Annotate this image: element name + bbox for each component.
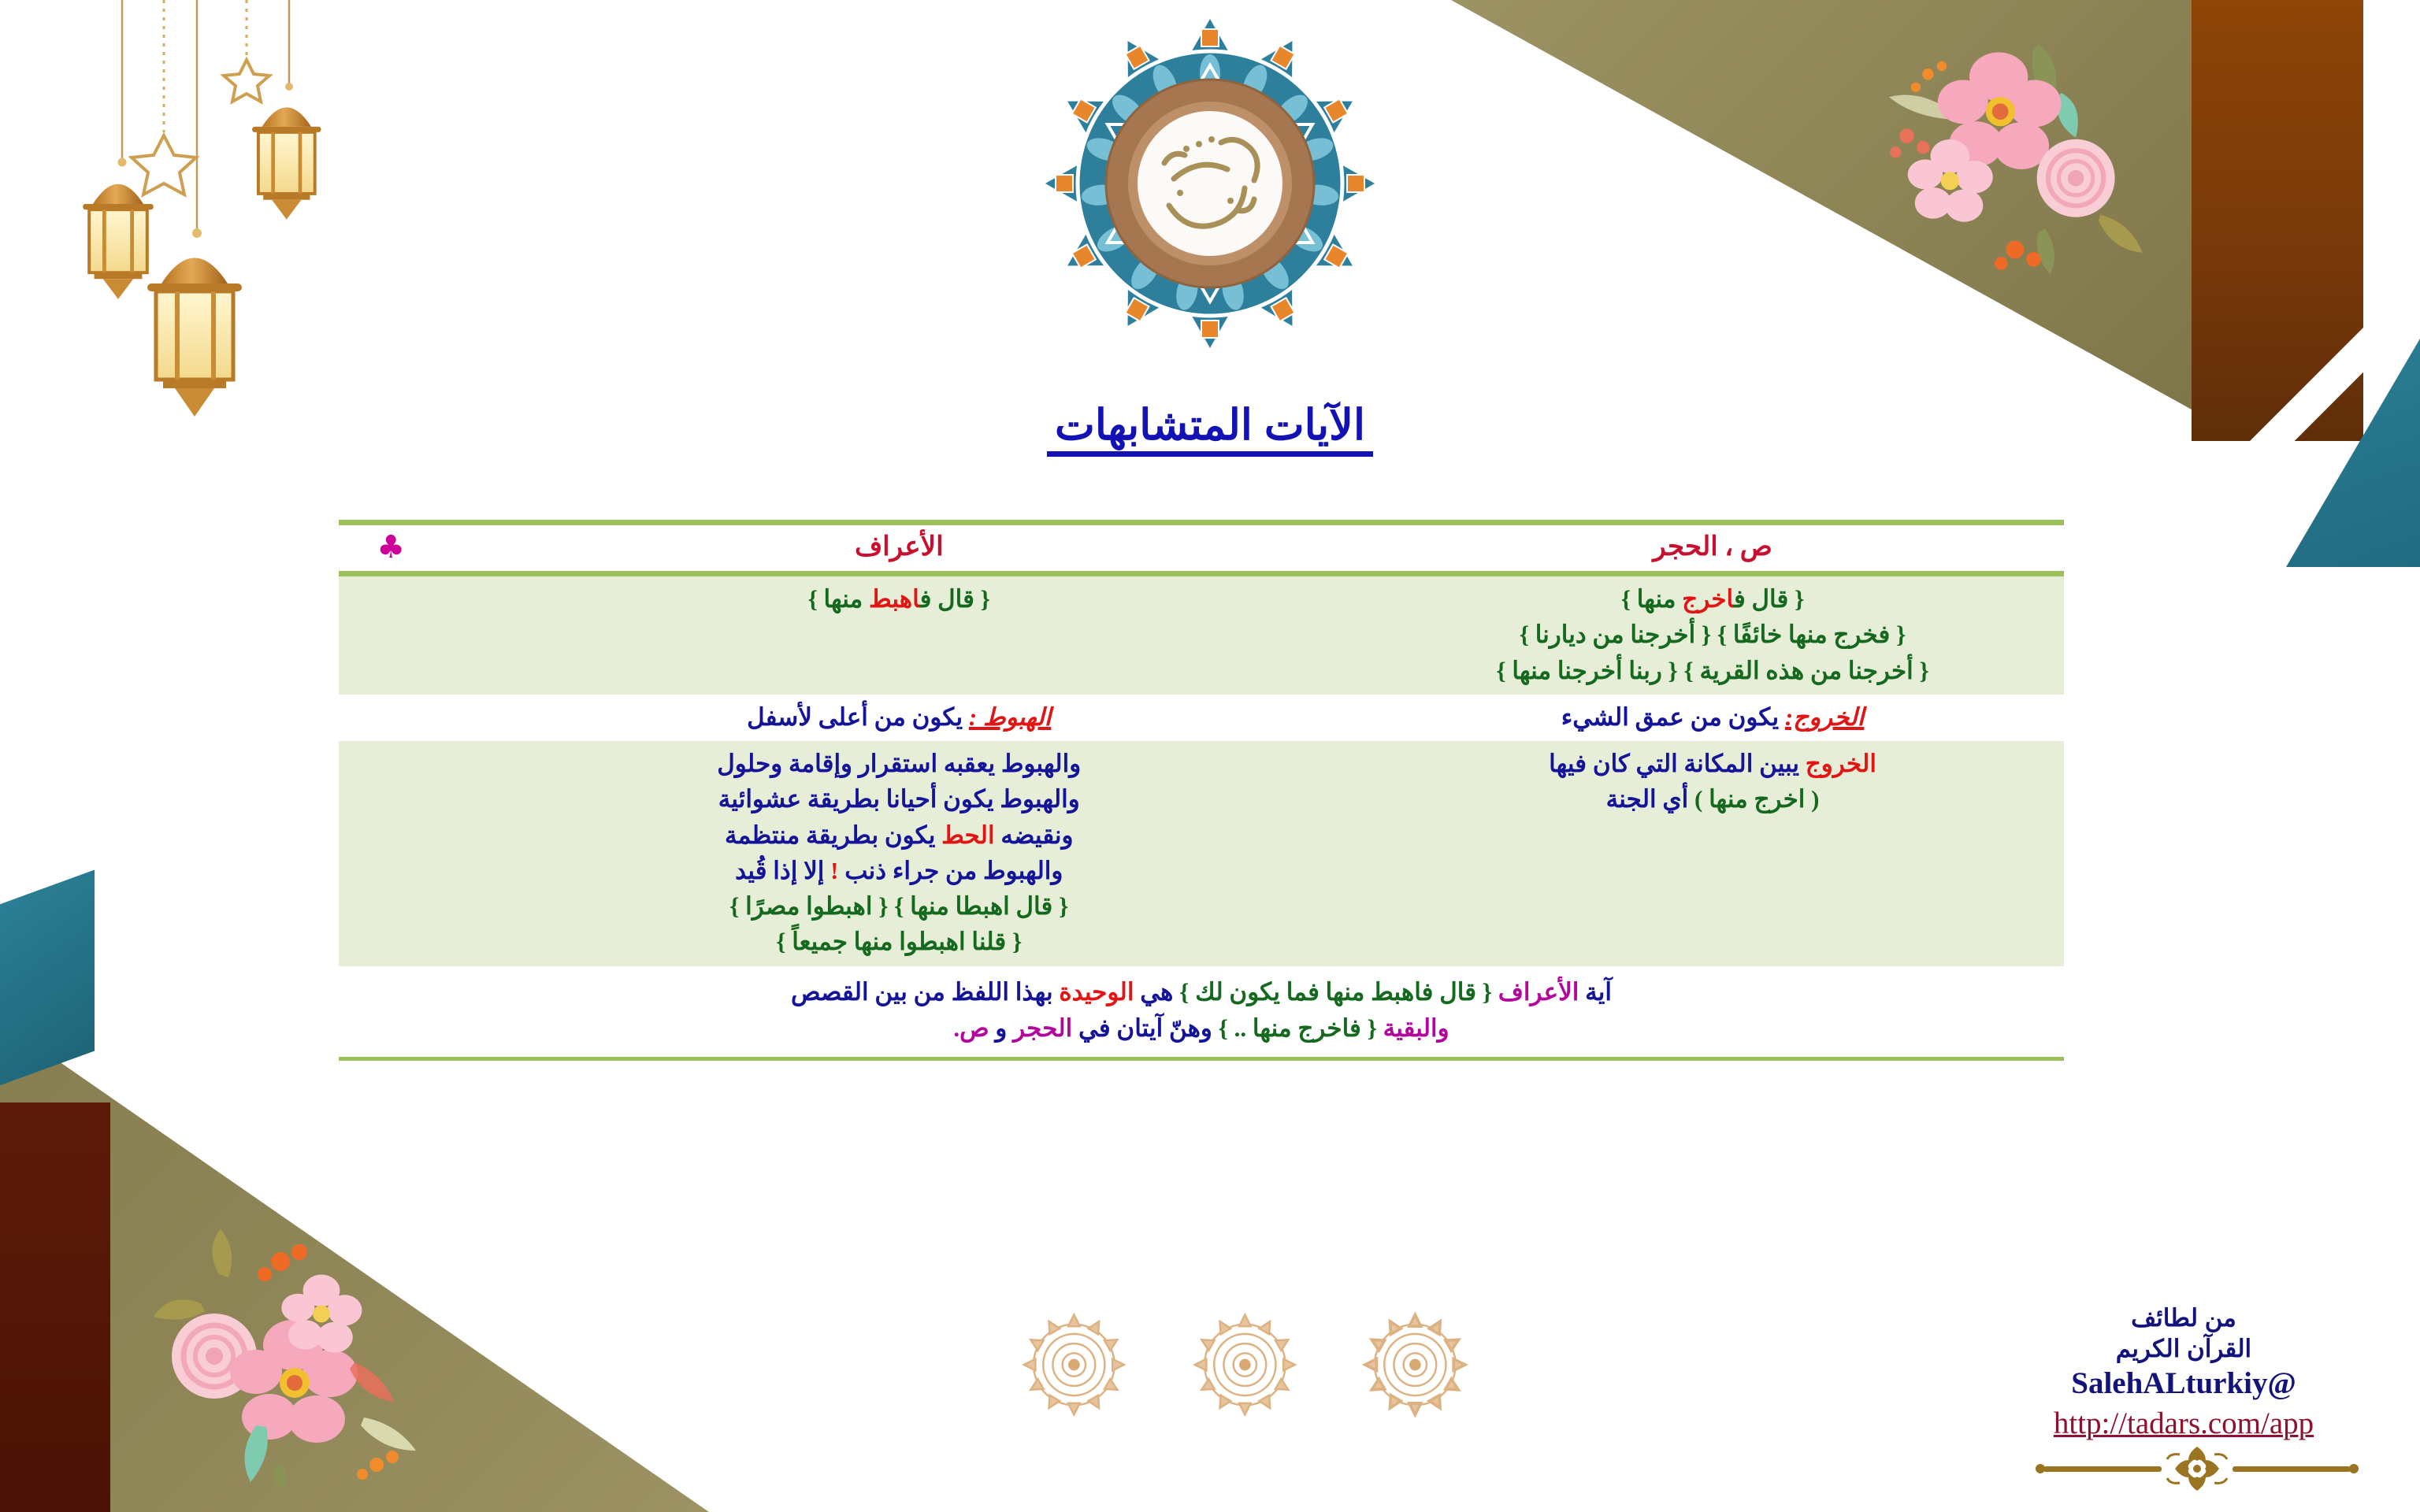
text-run: يبين المكانة التي كان فيها: [1549, 750, 1806, 777]
floral-bouquet-icon-top-right: [1829, 16, 2160, 276]
text-run: و: [989, 1014, 1013, 1042]
mandala-rosette-icon: [1187, 1298, 1303, 1432]
credit-line-2: القرآن الكريم: [1995, 1333, 2373, 1364]
row1-cell-right: { قال فاهبط منها }: [451, 576, 1357, 695]
text-run: الحط: [941, 821, 995, 849]
floral-bouquet-icon-bottom-left: [126, 1228, 441, 1488]
text-run: { قلنا اهبطوا منها جميعاً }: [776, 928, 1022, 955]
text-line: { فخرج منها خائفًا } { أخرجنا من ديارنا …: [1372, 617, 2053, 652]
club-icon: ♣: [339, 525, 451, 571]
text-line: والهبوط يعقبه استقرار وإقامة وحلول: [462, 746, 1336, 781]
text-line: والهبوط يكون أحيانا بطريقة عشوائية: [462, 781, 1336, 817]
text-run: يكون من عمق الشيء: [1561, 703, 1785, 731]
row3-cell-left: الخروج يبين المكانة التي كان فيها( اخرج …: [1357, 741, 2064, 966]
bottom-left-teal-parallelogram: [0, 870, 95, 1091]
text-line: { أخرجنا من هذه القرية } { ربنا أخرجنا م…: [1372, 653, 2053, 688]
row2-left-lines: الخروج: يكون من عمق الشيء: [1372, 699, 2053, 735]
text-line: { قال اهبطا منها } { اهبطوا مصرًا }: [462, 888, 1336, 924]
text-line: الهبوط : يكون من أعلى لأسفل: [462, 699, 1336, 735]
text-run: آية: [1579, 978, 1612, 1006]
text-line: ونقيضه الحط يكون بطريقة منتظمة: [462, 817, 1336, 853]
table-row: الخروج يبين المكانة التي كان فيها( اخرج …: [339, 741, 2064, 966]
row1-cell-left: { قال فاخرج منها }{ فخرج منها خائفًا } {…: [1357, 576, 2064, 695]
table-header-rule: [339, 571, 2064, 576]
text-line: الخروج: يكون من عمق الشيء: [1372, 699, 2053, 735]
text-run: يكون بطريقة منتظمة: [725, 821, 941, 849]
table-bottom-rule: [339, 1057, 2064, 1061]
table-note-row: آية الأعراف { قال فاهبط منها فما يكون لك…: [339, 966, 2064, 1057]
mandala-rosette-icon: [1016, 1298, 1132, 1432]
text-run: ونقيضه: [995, 821, 1074, 849]
text-run: { فاخرج منها .. }: [1219, 1014, 1377, 1042]
text-line: ( اخرج منها ) أي الجنة: [1372, 781, 2053, 817]
text-run: والهبوط من جراء ذنب: [838, 857, 1063, 884]
mandala-rosettes-group: [1016, 1298, 1473, 1440]
text-run: { أخرجنا من هذه القرية } { ربنا أخرجنا م…: [1496, 657, 1928, 684]
row2-cell-left: الخروج: يكون من عمق الشيء: [1357, 695, 2064, 741]
text-run: { قال اهبطا منها } { اهبطوا مصرًا }: [729, 892, 1068, 920]
row2-cell-right: الهبوط : يكون من أعلى لأسفل: [451, 695, 1357, 741]
text-run: إلا إذا قُيد: [735, 857, 830, 884]
text-line: والبقية { فاخرج منها .. } وهنّ آيتان في …: [362, 1010, 2040, 1047]
row1-right-lines: { قال فاهبط منها }: [462, 581, 1336, 617]
row1-left-lines: { قال فاخرج منها }{ فخرج منها خائفًا } {…: [1372, 581, 2053, 688]
text-run: وهنّ آيتان في: [1072, 1014, 1218, 1042]
text-run: والبقية: [1377, 1014, 1449, 1042]
text-run: والهبوط يكون أحيانا بطريقة عشوائية: [718, 785, 1080, 813]
table-row: الخروج: يكون من عمق الشيء الهبوط : يكون …: [339, 695, 2064, 741]
page-title-wrapper: الآيات المتشابهات: [0, 403, 2420, 457]
table-header-col-left: ص ، الحجر: [1357, 525, 2064, 571]
row2-right-lines: الهبوط : يكون من أعلى لأسفل: [462, 699, 1336, 735]
row2-cell-marker: [339, 695, 451, 741]
text-run: { قال ف: [920, 585, 990, 613]
text-run: { فخرج منها خائفًا } { أخرجنا من ديارنا …: [1520, 621, 1906, 648]
table-header-col-right: الأعراف: [451, 525, 1357, 571]
text-line: والهبوط من جراء ذنب ! إلا إذا قُيد: [462, 853, 1336, 888]
text-run: ( اخرج منها ): [1694, 785, 1819, 813]
text-run: أي الجنة: [1606, 785, 1694, 813]
text-run: { قال فاهبط منها فما يكون لك }: [1179, 978, 1498, 1006]
text-run: منها }: [808, 585, 869, 613]
text-line: الخروج يبين المكانة التي كان فيها: [1372, 746, 2053, 781]
mandala-rosette-icon: [1357, 1298, 1473, 1432]
text-run: !: [830, 857, 838, 884]
text-run: الهبوط :: [969, 703, 1051, 731]
page-title: الآيات المتشابهات: [1047, 403, 1373, 457]
text-run: يكون من أعلى لأسفل: [747, 703, 969, 731]
text-run: بهذا اللفظ من بين القصص: [791, 978, 1059, 1006]
text-run: الأعراف: [1498, 978, 1579, 1006]
comparison-table: ص ، الحجر الأعراف ♣ { قال فاخرج منها }{ …: [339, 520, 2064, 1061]
text-run: والهبوط يعقبه استقرار وإقامة وحلول: [717, 750, 1081, 777]
text-run: هي: [1134, 978, 1179, 1006]
text-run: الخروج:: [1785, 703, 1864, 731]
text-run: الوحيدة: [1059, 978, 1134, 1006]
text-run: الحجر: [1013, 1014, 1072, 1042]
text-line: آية الأعراف { قال فاهبط منها فما يكون لك…: [362, 974, 2040, 1011]
credit-handle: @SalehALturkiy: [1995, 1366, 2373, 1403]
credit-block: من لطائف القرآن الكريم @SalehALturkiy ht…: [1995, 1303, 2373, 1441]
table-header-row: ص ، الحجر الأعراف ♣: [339, 525, 2064, 571]
row3-cell-marker: [339, 741, 451, 966]
credit-url-link[interactable]: http://tadars.com/app: [2054, 1406, 2314, 1441]
credit-line-1: من لطائف: [1995, 1303, 2373, 1333]
table-note-lines: آية الأعراف { قال فاهبط منها فما يكون لك…: [362, 974, 2040, 1047]
text-run: ص.: [953, 1014, 989, 1042]
slide-canvas: الآيات المتشابهات ص ، الحجر الأعراف ♣ { …: [0, 0, 2420, 1512]
text-line: { قال فاهبط منها }: [462, 581, 1336, 617]
row3-cell-right: والهبوط يعقبه استقرار وإقامة وحلولوالهبو…: [451, 741, 1357, 966]
text-run: { قال ف: [1734, 585, 1804, 613]
text-run: الخروج: [1806, 750, 1876, 777]
table-top-rule: [339, 520, 2064, 525]
row3-right-lines: والهبوط يعقبه استقرار وإقامة وحلولوالهبو…: [462, 746, 1336, 960]
row3-left-lines: الخروج يبين المكانة التي كان فيها( اخرج …: [1372, 746, 2053, 817]
text-line: { قال فاخرج منها }: [1372, 581, 2053, 617]
text-run: اهبط: [869, 585, 920, 613]
gold-divider-ornament-icon: [2012, 1441, 2382, 1496]
table-row: { قال فاخرج منها }{ فخرج منها خائفًا } {…: [339, 576, 2064, 695]
text-run: منها }: [1621, 585, 1682, 613]
text-line: { قلنا اهبطوا منها جميعاً }: [462, 924, 1336, 959]
bottom-left-maroon-band: [0, 1102, 110, 1512]
quran-medallion-logo-icon: [1037, 6, 1383, 361]
text-run: اخرج: [1682, 585, 1734, 613]
row1-cell-marker: [339, 576, 451, 695]
